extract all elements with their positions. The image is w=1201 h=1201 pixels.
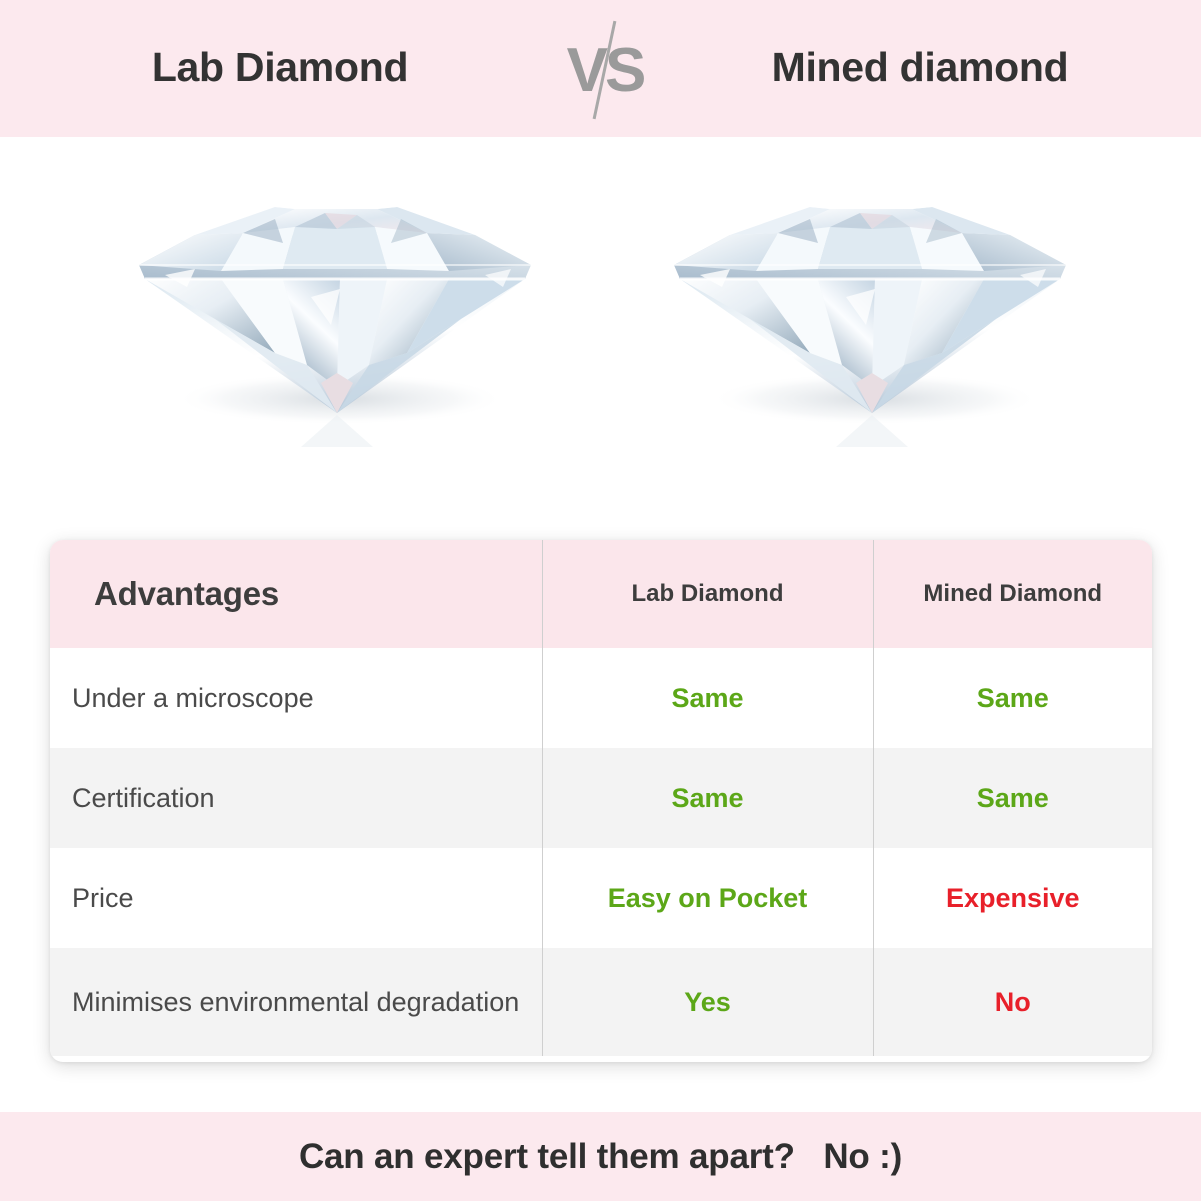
table-row: Under a microscope Same Same	[50, 648, 1152, 748]
diamond-image-area	[0, 137, 1201, 527]
table-row: Certification Same Same	[50, 748, 1152, 848]
column-header-lab-diamond: Lab Diamond	[542, 540, 873, 648]
row-value-mined: Same	[873, 648, 1152, 748]
row-value-lab: Yes	[542, 948, 873, 1056]
row-value-lab: Same	[542, 748, 873, 848]
row-feature-label: Minimises environmental degradation	[50, 948, 542, 1056]
diamond-icon	[125, 147, 545, 457]
column-header-advantages: Advantages	[50, 540, 542, 648]
row-value-lab: Easy on Pocket	[542, 848, 873, 948]
row-value-mined: No	[873, 948, 1152, 1056]
comparison-table: Advantages Lab Diamond Mined Diamond Und…	[50, 540, 1152, 1056]
row-feature-label: Under a microscope	[50, 648, 542, 748]
header-inner: Lab Diamond VS Mined diamond	[0, 0, 1201, 137]
table-row: Minimises environmental degradation Yes …	[50, 948, 1152, 1056]
row-feature-label: Certification	[50, 748, 542, 848]
table-header-row: Advantages Lab Diamond Mined Diamond	[50, 540, 1152, 648]
mined-diamond-image	[660, 147, 1080, 457]
row-value-mined: Expensive	[873, 848, 1152, 948]
row-feature-label: Price	[50, 848, 542, 948]
header-band: Lab Diamond VS Mined diamond	[0, 0, 1201, 137]
header-title-lab: Lab Diamond	[0, 44, 560, 91]
comparison-table-card: Advantages Lab Diamond Mined Diamond Und…	[50, 540, 1152, 1062]
row-value-mined: Same	[873, 748, 1152, 848]
lab-diamond-image	[125, 147, 545, 457]
table-body: Under a microscope Same Same Certificati…	[50, 648, 1152, 1056]
table-header: Advantages Lab Diamond Mined Diamond	[50, 540, 1152, 648]
table-row: Price Easy on Pocket Expensive	[50, 848, 1152, 948]
column-header-mined-diamond: Mined Diamond	[873, 540, 1152, 648]
diamond-icon	[660, 147, 1080, 457]
row-value-lab: Same	[542, 648, 873, 748]
header-title-mined: Mined diamond	[640, 44, 1200, 91]
footer-question: Can an expert tell them apart? No :)	[299, 1137, 902, 1177]
footer-band: Can an expert tell them apart? No :)	[0, 1112, 1201, 1201]
